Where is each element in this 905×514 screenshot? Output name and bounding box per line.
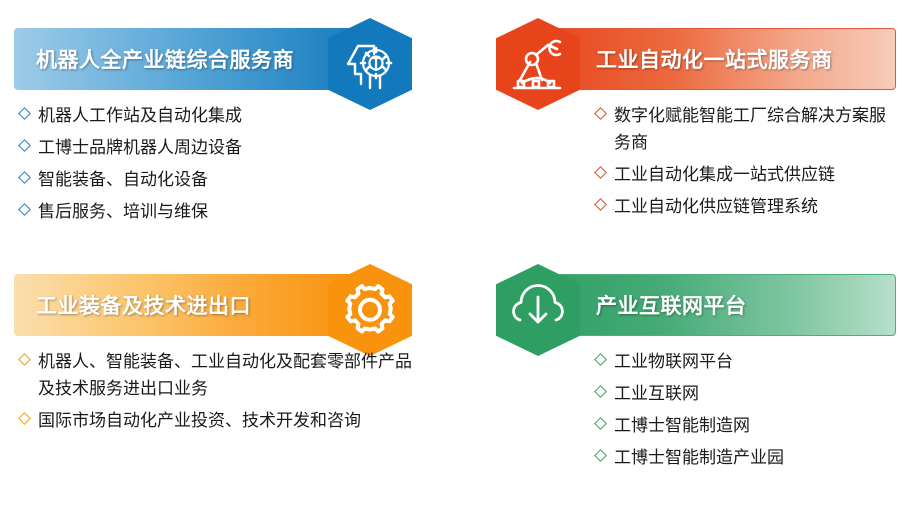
card-banner: 机器人全产业链综合服务商 — [14, 28, 414, 90]
diamond-bullet-icon — [594, 449, 607, 462]
list-item-label: 数字化赋能智能工厂综合解决方案服务商 — [614, 102, 896, 156]
list-item: 智能装备、自动化设备 — [20, 166, 414, 193]
card-title: 机器人全产业链综合服务商 — [36, 28, 294, 90]
diamond-bullet-icon — [18, 203, 31, 216]
list-item-label: 工业互联网 — [614, 380, 699, 407]
card-industrial-automation: 工业自动化一站式服务商 — [496, 28, 896, 90]
list-item: 工博士品牌机器人周边设备 — [20, 134, 414, 161]
card-banner: 工业自动化一站式服务商 — [496, 28, 896, 90]
diamond-bullet-icon — [594, 166, 607, 179]
diamond-bullet-icon — [594, 417, 607, 430]
diamond-bullet-icon — [594, 385, 607, 398]
list-item: 数字化赋能智能工厂综合解决方案服务商 — [596, 102, 896, 156]
card-title: 工业装备及技术进出口 — [36, 274, 251, 336]
diamond-bullet-icon — [18, 139, 31, 152]
diamond-bullet-icon — [594, 353, 607, 366]
bullet-list: 机器人、智能装备、工业自动化及配套零部件产品及技术服务进出口业务 国际市场自动化… — [20, 348, 414, 439]
list-item: 机器人工作站及自动化集成 — [20, 102, 414, 129]
list-item-label: 工业物联网平台 — [614, 348, 733, 375]
list-item-label: 工业自动化集成一站式供应链 — [614, 161, 835, 188]
bullet-list: 数字化赋能智能工厂综合解决方案服务商 工业自动化集成一站式供应链 工业自动化供应… — [596, 102, 896, 225]
card-title: 工业自动化一站式服务商 — [596, 28, 833, 90]
list-item: 国际市场自动化产业投资、技术开发和咨询 — [20, 407, 414, 434]
diamond-bullet-icon — [18, 107, 31, 120]
card-robot-full-chain: 机器人全产业链综合服务商 — [14, 28, 414, 90]
list-item: 机器人、智能装备、工业自动化及配套零部件产品及技术服务进出口业务 — [20, 348, 414, 402]
diamond-bullet-icon — [594, 107, 607, 120]
list-item: 工业自动化集成一站式供应链 — [596, 161, 896, 188]
list-item: 工业互联网 — [596, 380, 896, 407]
list-item-label: 工博士智能制造产业园 — [614, 444, 784, 471]
list-item-label: 国际市场自动化产业投资、技术开发和咨询 — [38, 407, 361, 434]
list-item-label: 智能装备、自动化设备 — [38, 166, 208, 193]
list-item: 工博士智能制造网 — [596, 412, 896, 439]
list-item-label: 工业自动化供应链管理系统 — [614, 193, 818, 220]
list-item-label: 售后服务、培训与维保 — [38, 198, 208, 225]
list-item: 工博士智能制造产业园 — [596, 444, 896, 471]
diamond-bullet-icon — [18, 412, 31, 425]
card-industrial-internet-platform: 产业互联网平台 工业物联网平台 工业互联网 — [496, 274, 896, 336]
card-banner: 工业装备及技术进出口 — [14, 274, 414, 336]
list-item-label: 机器人、智能装备、工业自动化及配套零部件产品及技术服务进出口业务 — [38, 348, 414, 402]
list-item-label: 机器人工作站及自动化集成 — [38, 102, 242, 129]
business-segments-board: 机器人全产业链综合服务商 — [0, 0, 905, 514]
bullet-list: 机器人工作站及自动化集成 工博士品牌机器人周边设备 智能装备、自动化设备 售后服… — [20, 102, 414, 230]
diamond-bullet-icon — [18, 353, 31, 366]
list-item-label: 工博士品牌机器人周边设备 — [38, 134, 242, 161]
list-item: 工业自动化供应链管理系统 — [596, 193, 896, 220]
card-title: 产业互联网平台 — [596, 274, 747, 336]
list-item-label: 工博士智能制造网 — [614, 412, 750, 439]
diamond-bullet-icon — [594, 198, 607, 211]
bullet-list: 工业物联网平台 工业互联网 工博士智能制造网 工博士智能制造产业园 — [596, 348, 896, 476]
list-item: 售后服务、培训与维保 — [20, 198, 414, 225]
card-banner: 产业互联网平台 — [496, 274, 896, 336]
diamond-bullet-icon — [18, 171, 31, 184]
card-equipment-import-export: 工业装备及技术进出口 机器人、智能装备、工业自动化及配套零部件产品及技术服务进出… — [14, 274, 414, 336]
list-item: 工业物联网平台 — [596, 348, 896, 375]
